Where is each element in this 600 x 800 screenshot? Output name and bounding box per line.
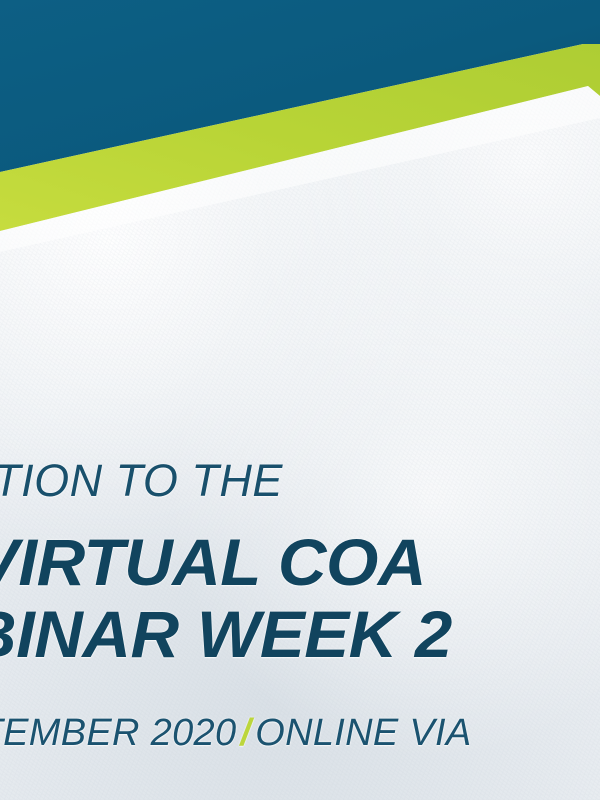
- event-details-line: PTEMBER 2020/ONLINE VIA: [0, 712, 472, 755]
- title-line-2: BINAR WEEK 2: [0, 596, 452, 672]
- poster-canvas: ATION TO THE VIRTUAL COA BINAR WEEK 2 PT…: [0, 0, 600, 800]
- detail-separator-icon: /: [236, 712, 255, 754]
- event-date: PTEMBER 2020: [0, 712, 236, 754]
- headline-text-block: ATION TO THE VIRTUAL COA BINAR WEEK 2 PT…: [0, 0, 600, 800]
- event-platform: ONLINE VIA: [255, 712, 471, 754]
- title-line-1: VIRTUAL COA: [0, 524, 426, 600]
- eyebrow-text: ATION TO THE: [0, 455, 283, 507]
